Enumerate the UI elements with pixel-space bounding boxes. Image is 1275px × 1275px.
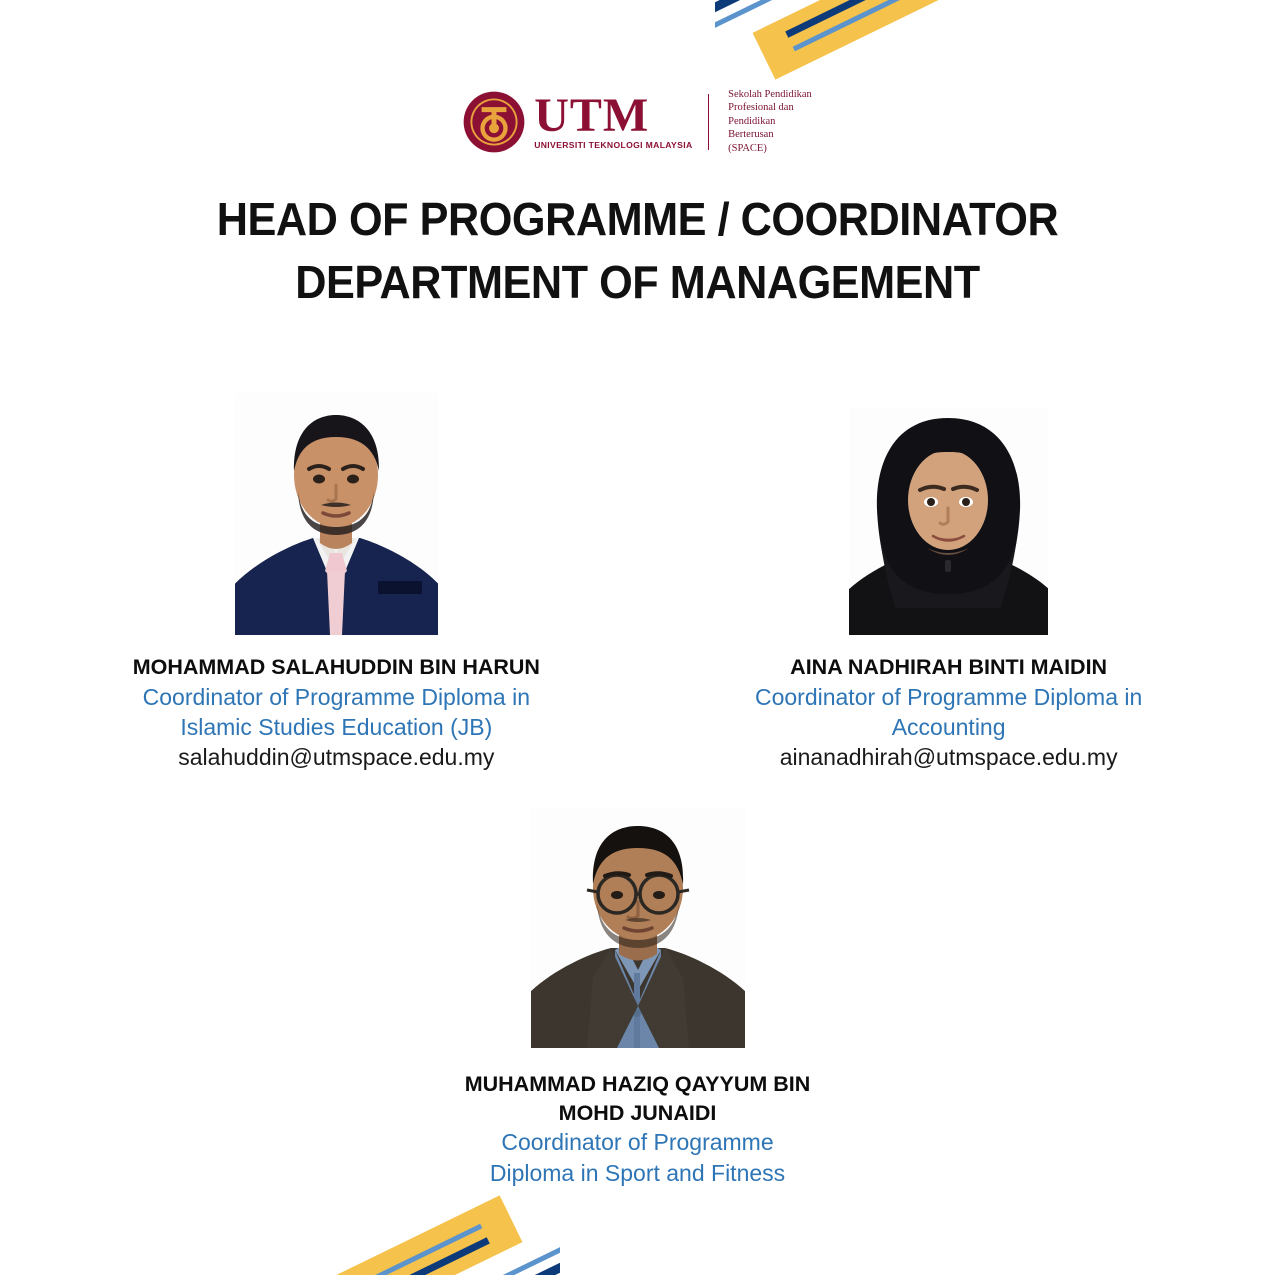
person-role-3-line-1: Coordinator of Programme [501, 1129, 773, 1155]
poster-canvas: UTM UNIVERSITI TEKNOLOGI MALAYSIA Sekola… [0, 0, 1275, 1275]
space-unit-name: Sekolah Pendidikan Profesional dan Pendi… [728, 88, 812, 155]
person-email-2: ainanadhirah@utmspace.edu.my [780, 742, 1118, 772]
person-name-3-line-1: MUHAMMAD HAZIQ QAYYUM BIN [465, 1072, 811, 1096]
portrait-photo-3 [531, 808, 745, 1048]
page-title: HEAD OF PROGRAMME / COORDINATOR DEPARTME… [0, 188, 1275, 315]
utm-space-logo: UTM UNIVERSITI TEKNOLOGI MALAYSIA Sekola… [0, 88, 1275, 155]
person-card-2: AINA NADHIRAH BINTI MAIDIN Coordinator o… [755, 390, 1142, 773]
space-line-5: (SPACE) [728, 143, 767, 154]
title-line-1: HEAD OF PROGRAMME / COORDINATOR [38, 188, 1237, 251]
person-role-1-line-2: Islamic Studies Education (JB) [180, 714, 492, 740]
utm-crest-icon [463, 91, 525, 153]
title-line-2: DEPARTMENT OF MANAGEMENT [38, 251, 1237, 314]
person-role-3: Coordinator of Programme Diploma in Spor… [490, 1127, 785, 1188]
person-name-1: MOHAMMAD SALAHUDDIN BIN HARUN [133, 653, 540, 682]
utm-wordmark: UTM [534, 94, 649, 138]
people-row-top: MOHAMMAD SALAHUDDIN BIN HARUN Coordinato… [0, 390, 1275, 773]
person-card-1: MOHAMMAD SALAHUDDIN BIN HARUN Coordinato… [133, 390, 540, 773]
person-name-3-line-2: MOHD JUNAIDI [559, 1101, 717, 1125]
person-name-2: AINA NADHIRAH BINTI MAIDIN [790, 653, 1107, 682]
logo-divider [708, 94, 710, 150]
person-name-3: MUHAMMAD HAZIQ QAYYUM BIN MOHD JUNAIDI [465, 1070, 811, 1127]
utm-tagline: UNIVERSITI TEKNOLOGI MALAYSIA [534, 140, 692, 150]
person-role-1: Coordinator of Programme Diploma in Isla… [143, 682, 530, 743]
person-email-1: salahuddin@utmspace.edu.my [178, 742, 494, 772]
portrait-photo-2 [849, 408, 1048, 635]
space-line-4: Berterusan [728, 129, 773, 140]
person-role-2: Coordinator of Programme Diploma in Acco… [755, 682, 1142, 743]
person-card-3: MUHAMMAD HAZIQ QAYYUM BIN MOHD JUNAIDI C… [465, 808, 811, 1188]
space-line-2: Profesional dan [728, 102, 794, 113]
space-line-3: Pendidikan [728, 116, 775, 127]
person-role-2-line-2: Accounting [892, 714, 1006, 740]
space-line-1: Sekolah Pendidikan [728, 89, 812, 100]
portrait-photo-1 [235, 393, 438, 635]
people-row-bottom: MUHAMMAD HAZIQ QAYYUM BIN MOHD JUNAIDI C… [0, 808, 1275, 1188]
person-role-3-line-2: Diploma in Sport and Fitness [490, 1160, 785, 1186]
person-role-1-line-1: Coordinator of Programme Diploma in [143, 684, 530, 710]
person-role-2-line-1: Coordinator of Programme Diploma in [755, 684, 1142, 710]
